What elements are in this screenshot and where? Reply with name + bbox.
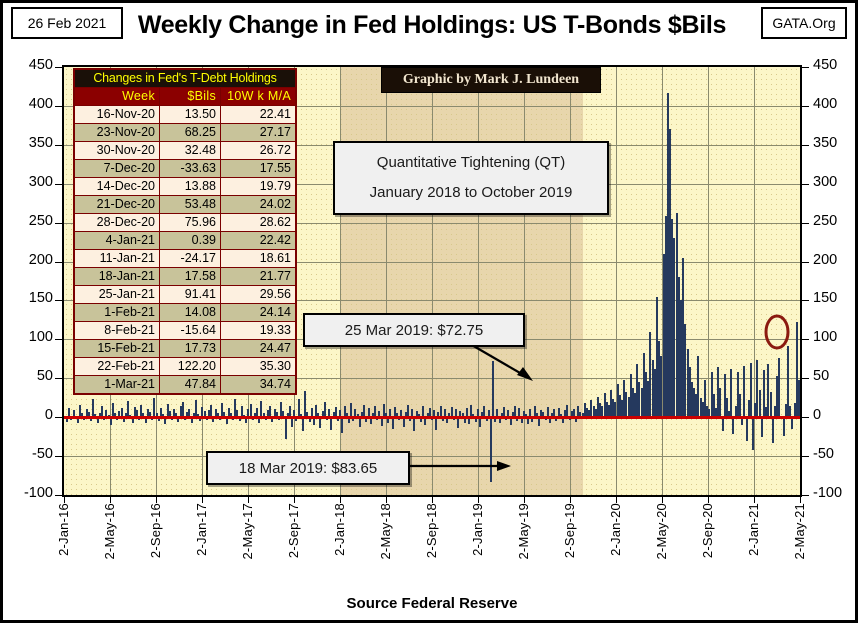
table-row: 15-Feb-2117.7324.47 — [74, 340, 296, 358]
y-tick-mark-left — [55, 339, 62, 340]
bar — [761, 417, 763, 436]
y-tick-mark-left — [55, 417, 62, 418]
table-cell: 0.39 — [160, 232, 221, 250]
table-cell: 17.73 — [160, 340, 221, 358]
y-tick-label-left: 200 — [7, 252, 53, 268]
qt-annotation-line2: January 2018 to October 2019 — [370, 178, 573, 208]
bar — [798, 380, 800, 417]
table-row: 16-Nov-2013.5022.41 — [74, 106, 296, 124]
table-cell: 11-Jan-21 — [74, 250, 160, 268]
table-row: 4-Jan-210.3922.42 — [74, 232, 296, 250]
table-cell: 53.48 — [160, 196, 221, 214]
bar — [783, 417, 785, 436]
table-cell: 27.17 — [221, 124, 297, 142]
table-cell: 17.55 — [221, 160, 297, 178]
bar — [302, 417, 304, 431]
x-tick-mark — [202, 497, 203, 503]
qt-annotation: Quantitative Tightening (QT) January 201… — [333, 141, 609, 215]
mar25-annotation: 25 Mar 2019: $72.75 — [303, 313, 525, 347]
y-tick-label-right: 150 — [813, 290, 858, 306]
x-tick-mark — [524, 497, 525, 503]
x-tick-mark — [248, 497, 249, 503]
bar — [350, 403, 352, 417]
table-cell: 19.79 — [221, 178, 297, 196]
x-tick-label: 2-May-18 — [378, 503, 393, 560]
table-header-row: Week $Bils 10W k M/A — [74, 88, 296, 106]
table-cell: 25-Jan-21 — [74, 286, 160, 304]
chart-page: 26 Feb 2021 Weekly Change in Fed Holding… — [0, 0, 858, 623]
table-cell: 18-Jan-21 — [74, 268, 160, 286]
y-tick-label-right: 100 — [813, 329, 858, 345]
table-row: 7-Dec-20-33.6317.55 — [74, 160, 296, 178]
table-cell: -33.63 — [160, 160, 221, 178]
y-tick-label-left: 150 — [7, 290, 53, 306]
y-tick-label-left: -50 — [7, 446, 53, 462]
x-tick-mark — [156, 497, 157, 503]
bar — [719, 388, 721, 418]
table-cell: 28-Dec-20 — [74, 214, 160, 232]
table-row: 1-Feb-2114.0824.14 — [74, 304, 296, 322]
bar — [250, 404, 252, 417]
y-tick-mark-right — [802, 456, 809, 457]
table-cell: 22-Feb-21 — [74, 358, 160, 376]
table-row: 23-Nov-2068.2527.17 — [74, 124, 296, 142]
x-tick-label: 2-Jan-17 — [194, 503, 209, 556]
y-tick-mark-right — [802, 262, 809, 263]
y-tick-label-right: 400 — [813, 96, 858, 112]
y-tick-label-right: -100 — [813, 485, 858, 501]
bar — [743, 366, 745, 417]
table-cell: 47.84 — [160, 376, 221, 395]
y-tick-label-right: 0 — [813, 407, 858, 423]
table-cell: 1-Feb-21 — [74, 304, 160, 322]
table-cell: 35.30 — [221, 358, 297, 376]
y-tick-label-left: 50 — [7, 368, 53, 384]
y-tick-label-right: 250 — [813, 213, 858, 229]
x-tick-label: 2-Jan-19 — [470, 503, 485, 556]
highlight-circle-icon — [762, 311, 792, 353]
table-cell: 22.42 — [221, 232, 297, 250]
table-cell: 18.61 — [221, 250, 297, 268]
y-tick-mark-right — [802, 378, 809, 379]
table-cell: 1-Mar-21 — [74, 376, 160, 395]
y-tick-mark-right — [802, 339, 809, 340]
x-tick-mark — [800, 497, 801, 503]
table-cell: 32.48 — [160, 142, 221, 160]
y-tick-label-left: -100 — [7, 485, 53, 501]
y-tick-mark-left — [55, 495, 62, 496]
x-tick-label: 2-Sep-17 — [286, 503, 301, 558]
gridline-vertical — [800, 67, 801, 495]
table-cell: 19.33 — [221, 322, 297, 340]
x-tick-label: 2-Sep-19 — [562, 503, 577, 558]
x-tick-mark — [662, 497, 663, 503]
y-tick-label-right: -50 — [813, 446, 858, 462]
table-cell: 22.41 — [221, 106, 297, 124]
y-tick-label-right: 200 — [813, 252, 858, 268]
x-tick-label: 2-May-16 — [102, 503, 117, 560]
y-tick-label-right: 300 — [813, 174, 858, 190]
x-tick-mark — [754, 497, 755, 503]
table-row: 21-Dec-2053.4824.02 — [74, 196, 296, 214]
table-cell: 7-Dec-20 — [74, 160, 160, 178]
table-title: Changes in Fed's T-Debt Holdings — [74, 69, 296, 88]
y-tick-mark-right — [802, 145, 809, 146]
bar — [324, 402, 326, 418]
table-row: 18-Jan-2117.5821.77 — [74, 268, 296, 286]
table-cell: -24.17 — [160, 250, 221, 268]
table-cell: -15.64 — [160, 322, 221, 340]
table-cell: 28.62 — [221, 214, 297, 232]
table-cell: 21.77 — [221, 268, 297, 286]
col-header-week: Week — [74, 88, 160, 106]
y-tick-mark-right — [802, 223, 809, 224]
table-cell: 14.08 — [160, 304, 221, 322]
table-cell: 21-Dec-20 — [74, 196, 160, 214]
y-tick-label-right: 350 — [813, 135, 858, 151]
x-tick-mark — [386, 497, 387, 503]
table-row: 11-Jan-21-24.1718.61 — [74, 250, 296, 268]
table-cell: 29.56 — [221, 286, 297, 304]
x-tick-label: 2-May-19 — [516, 503, 531, 560]
table-cell: 8-Feb-21 — [74, 322, 160, 340]
bar — [770, 392, 772, 417]
y-tick-label-left: 100 — [7, 329, 53, 345]
y-tick-mark-right — [802, 495, 809, 496]
holdings-table: Changes in Fed's T-Debt Holdings Week $B… — [73, 68, 297, 395]
y-tick-mark-left — [55, 300, 62, 301]
y-tick-label-left: 450 — [7, 57, 53, 73]
x-tick-label: 2-Sep-20 — [700, 503, 715, 558]
y-tick-label-right: 50 — [813, 368, 858, 384]
table-cell: 91.41 — [160, 286, 221, 304]
qt-annotation-line1: Quantitative Tightening (QT) — [377, 148, 565, 178]
table-row: 25-Jan-2191.4129.56 — [74, 286, 296, 304]
x-tick-label: 2-Jan-16 — [56, 503, 71, 556]
bar — [772, 417, 774, 443]
bar — [722, 417, 724, 431]
table-cell: 122.20 — [160, 358, 221, 376]
bar — [778, 358, 780, 417]
table-cell: 75.96 — [160, 214, 221, 232]
bar — [285, 417, 287, 439]
table-row: 14-Dec-2013.8819.79 — [74, 178, 296, 196]
y-tick-mark-left — [55, 106, 62, 107]
table-cell: 24.14 — [221, 304, 297, 322]
table-cell: 34.74 — [221, 376, 297, 395]
y-tick-label-left: 400 — [7, 96, 53, 112]
table-row: 30-Nov-2032.4826.72 — [74, 142, 296, 160]
x-tick-mark — [110, 497, 111, 503]
y-tick-mark-left — [55, 145, 62, 146]
site-badge: GATA.Org — [761, 7, 847, 39]
zero-line — [64, 416, 800, 419]
bar — [413, 417, 415, 431]
x-tick-label: 2-Jan-18 — [332, 503, 347, 556]
table-cell: 17.58 — [160, 268, 221, 286]
x-tick-mark — [570, 497, 571, 503]
mar18-annotation: 18 Mar 2019: $83.65 — [206, 451, 410, 485]
x-tick-mark — [708, 497, 709, 503]
bar — [746, 417, 748, 440]
col-header-bils: $Bils — [160, 88, 221, 106]
x-tick-mark — [478, 497, 479, 503]
table-cell: 13.88 — [160, 178, 221, 196]
table-cell: 16-Nov-20 — [74, 106, 160, 124]
y-tick-mark-left — [55, 378, 62, 379]
x-tick-label: 2-May-21 — [792, 503, 807, 560]
x-tick-mark — [64, 497, 65, 503]
bar — [730, 369, 732, 417]
mar18-arrow-icon — [407, 458, 517, 474]
table-cell: 4-Jan-21 — [74, 232, 160, 250]
bar — [759, 390, 761, 417]
bar — [182, 402, 184, 417]
col-header-ma: 10W k M/A — [221, 88, 297, 106]
page-title: Weekly Change in Fed Holdings: US T-Bond… — [3, 11, 858, 40]
x-tick-mark — [432, 497, 433, 503]
y-tick-label-left: 250 — [7, 213, 53, 229]
table-cell: 24.47 — [221, 340, 297, 358]
y-tick-mark-right — [802, 184, 809, 185]
table-cell: 13.50 — [160, 106, 221, 124]
y-tick-label-left: 350 — [7, 135, 53, 151]
y-tick-mark-left — [55, 184, 62, 185]
table-cell: 68.25 — [160, 124, 221, 142]
x-tick-label: 2-Jan-21 — [746, 503, 761, 556]
bar — [341, 417, 343, 433]
x-tick-label: 2-May-17 — [240, 503, 255, 560]
y-tick-label-left: 0 — [7, 407, 53, 423]
y-tick-mark-left — [55, 262, 62, 263]
y-tick-mark-left — [55, 67, 62, 68]
y-tick-mark-right — [802, 300, 809, 301]
table-cell: 26.72 — [221, 142, 297, 160]
y-tick-mark-right — [802, 106, 809, 107]
table-row: 8-Feb-21-15.6419.33 — [74, 322, 296, 340]
y-tick-mark-left — [55, 223, 62, 224]
table-cell: 14-Dec-20 — [74, 178, 160, 196]
table-row: 22-Feb-21122.2035.30 — [74, 358, 296, 376]
graphic-credit: Graphic by Mark J. Lundeen — [381, 67, 601, 93]
x-tick-mark — [294, 497, 295, 503]
y-tick-mark-right — [802, 67, 809, 68]
table-cell: 23-Nov-20 — [74, 124, 160, 142]
x-tick-mark — [616, 497, 617, 503]
x-tick-label: 2-Sep-18 — [424, 503, 439, 558]
x-tick-label: 2-Jan-20 — [608, 503, 623, 556]
table-row: 1-Mar-2147.8434.74 — [74, 376, 296, 395]
table-row: 28-Dec-2075.9628.62 — [74, 214, 296, 232]
bar — [752, 417, 754, 450]
y-tick-label-right: 450 — [813, 57, 858, 73]
table-cell: 15-Feb-21 — [74, 340, 160, 358]
x-tick-label: 2-May-20 — [654, 503, 669, 560]
y-tick-mark-left — [55, 456, 62, 457]
bar — [750, 363, 752, 417]
y-tick-label-left: 300 — [7, 174, 53, 190]
x-tick-mark — [340, 497, 341, 503]
source-caption: Source Federal Reserve — [3, 595, 858, 612]
table-cell: 30-Nov-20 — [74, 142, 160, 160]
bar — [732, 417, 734, 434]
table-cell: 24.02 — [221, 196, 297, 214]
bar — [739, 394, 741, 417]
x-tick-label: 2-Sep-16 — [148, 503, 163, 558]
y-tick-mark-right — [802, 417, 809, 418]
